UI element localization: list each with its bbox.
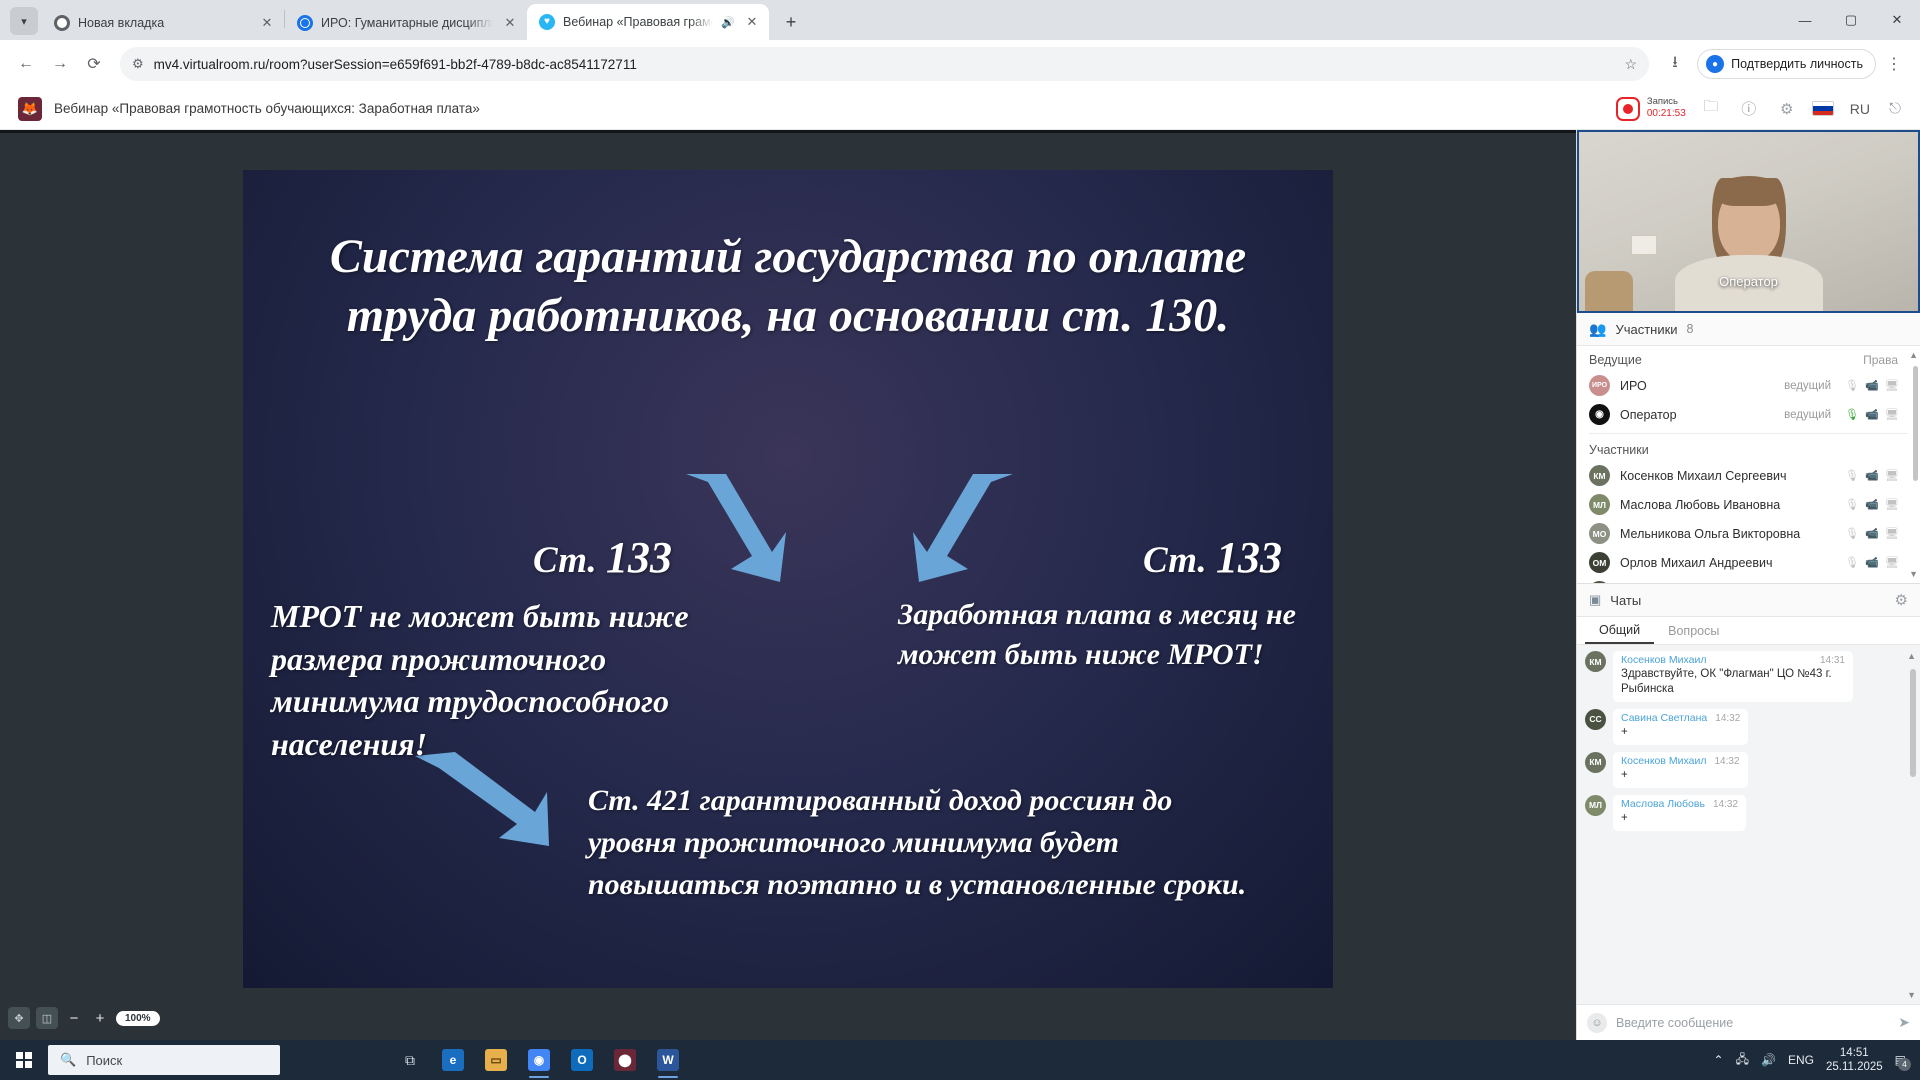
- message-bubble: Косенков Михаил 14:31 Здравствуйте, ОК "…: [1613, 651, 1853, 702]
- smiley-icon[interactable]: ☺: [1587, 1013, 1607, 1033]
- scroll-down-icon[interactable]: ▼: [1907, 990, 1916, 1000]
- avatar: ◉: [1589, 404, 1610, 425]
- participant-row-host-1[interactable]: ◉ Оператор ведущий 🎙 📹 🖥: [1577, 400, 1920, 429]
- video-participant-name: Оператор: [1579, 274, 1918, 289]
- message-bubble: Маслова Любовь 14:32 +: [1613, 795, 1746, 831]
- article-number: 133: [1216, 533, 1282, 582]
- clock-time: 14:51: [1840, 1047, 1869, 1059]
- scroll-up-icon[interactable]: ▲: [1907, 651, 1916, 661]
- zoom-out-button[interactable]: −: [64, 1007, 84, 1029]
- maximize-button[interactable]: ▢: [1828, 0, 1874, 40]
- participant-name: Орлов Михаил Андреевич: [1620, 556, 1835, 570]
- message-time: 14:32: [1715, 713, 1740, 724]
- mic-off-icon[interactable]: 🎙: [1845, 556, 1858, 569]
- participant-row-2[interactable]: МО Мельникова Ольга Викторовна 🎙 📹 🖥: [1577, 519, 1920, 548]
- participants-list[interactable]: Ведущие Права ИРО ИРО ведущий 🎙 📹 🖥: [1577, 346, 1920, 583]
- divider: [1589, 433, 1908, 434]
- message-time: 14:32: [1713, 799, 1738, 810]
- message-text: +: [1621, 811, 1738, 826]
- message-text: Здравствуйте, ОК "Флагман" ЦО №43 г. Рыб…: [1621, 667, 1845, 697]
- chat-icon: ▣: [1589, 592, 1601, 608]
- address-bar[interactable]: ⚙ mv4.virtualroom.ru/room?userSession=e6…: [120, 47, 1649, 81]
- gear-icon[interactable]: ⚙: [1895, 591, 1908, 609]
- fit-width-icon[interactable]: ◫: [36, 1007, 58, 1029]
- mic-on-icon[interactable]: 🎙: [1845, 408, 1858, 421]
- article-prefix: Ст.: [1143, 540, 1207, 581]
- chats-header: ▣ Чаты ⚙: [1577, 584, 1920, 617]
- tab-strip: ▾ Новая вкладка ✕ ИРО: Гуманитарные дисц…: [0, 0, 1920, 40]
- page-title: Вебинар «Правовая грамотность обучающихс…: [54, 101, 1604, 116]
- notifications-icon[interactable]: ▤4: [1895, 1053, 1906, 1067]
- arrow-down-right-icon: [911, 470, 1031, 585]
- participant-row-0[interactable]: КМ Косенков Михаил Сергеевич 🎙 📹 🖥: [1577, 461, 1920, 490]
- star-icon[interactable]: ☆: [1625, 56, 1638, 73]
- message-author: Косенков Михаил: [1621, 654, 1706, 666]
- move-icon[interactable]: ✥: [8, 1007, 30, 1029]
- heart-icon: ♥: [539, 14, 555, 30]
- slide-title: Система гарантий государства по оплате т…: [303, 228, 1273, 345]
- avatar: КМ: [1589, 465, 1610, 486]
- tab-search-chevron-icon[interactable]: ▾: [10, 7, 38, 35]
- volume-icon[interactable]: 🔊: [1761, 1053, 1776, 1067]
- message-bubble: Косенков Михаил 14:32 +: [1613, 752, 1748, 788]
- zoom-level[interactable]: 100%: [116, 1011, 160, 1026]
- language-indicator[interactable]: ENG: [1788, 1053, 1814, 1067]
- kebab-menu-icon[interactable]: ⋮: [1878, 48, 1910, 80]
- info-icon[interactable]: ⓘ: [1736, 96, 1762, 122]
- folder-icon[interactable]: 🗀: [1698, 96, 1724, 122]
- taskbar-app-iro[interactable]: ⬤: [605, 1040, 645, 1080]
- participant-role: ведущий: [1784, 380, 1831, 392]
- tab-title: Новая вкладка: [78, 16, 250, 30]
- taskbar-app-edge[interactable]: e: [433, 1040, 473, 1080]
- windows-taskbar: 🔍 Поиск ⧉ e ▭ ◉ O ⬤ W ⌃ 🖧 🔊 ENG 14:51 25…: [0, 1040, 1920, 1080]
- globe-icon: [297, 15, 313, 31]
- tab-voprosy[interactable]: Вопросы: [1654, 617, 1733, 644]
- back-icon[interactable]: ←: [10, 48, 42, 80]
- hair-top: [1716, 176, 1782, 206]
- screen-share-off-icon[interactable]: 🖥: [1885, 469, 1898, 482]
- participant-role: ведущий: [1784, 409, 1831, 421]
- send-icon[interactable]: ➤: [1898, 1014, 1910, 1031]
- download-icon[interactable]: ⭳: [1659, 48, 1691, 80]
- recording-indicator: Запись 00:21:53: [1616, 97, 1686, 121]
- gear-icon[interactable]: ⚙: [1774, 96, 1800, 122]
- browser-tab-3[interactable]: ♥ Вебинар «Правовая грамо 🔊 ✕: [527, 4, 769, 40]
- browser-tab-2[interactable]: ИРО: Гуманитарные дисципли ✕: [285, 6, 527, 40]
- network-icon[interactable]: 🖧: [1736, 1050, 1749, 1071]
- mic-off-icon[interactable]: 🎙: [1845, 527, 1858, 540]
- clock[interactable]: 14:51 25.11.2025: [1826, 1046, 1883, 1075]
- scroll-down-icon[interactable]: ▼: [1909, 569, 1918, 579]
- mic-off-icon[interactable]: 🎙: [1845, 379, 1858, 392]
- message-author: Савина Светлана: [1621, 712, 1707, 724]
- hosts-label: Ведущие: [1589, 353, 1642, 367]
- wall-socket-shape: [1631, 235, 1657, 255]
- taskbar-app-chrome[interactable]: ◉: [519, 1040, 559, 1080]
- camera-off-icon[interactable]: 📹: [1865, 556, 1878, 569]
- screen-share-off-icon[interactable]: 🖥: [1885, 379, 1898, 392]
- slide-article-left: Ст. 133: [533, 532, 672, 583]
- participant-name: Маслова Любовь Ивановна: [1620, 498, 1835, 512]
- participant-name: Мельникова Ольга Викторовна: [1620, 527, 1835, 541]
- tab-title: Вебинар «Правовая грамо: [563, 15, 713, 29]
- message-author: Косенков Михаил: [1621, 755, 1706, 767]
- mic-off-icon[interactable]: 🎙: [1845, 498, 1858, 511]
- reload-icon[interactable]: ⟳: [78, 48, 110, 80]
- avatar: КМ: [1585, 651, 1606, 672]
- chat-scrollbar[interactable]: ▲ ▼: [1910, 653, 1916, 998]
- message-time: 14:31: [1820, 655, 1845, 666]
- message-time: 14:32: [1714, 756, 1739, 767]
- right-panel: Оператор 👥 Участники 8 Ведущие Права ИРО…: [1576, 130, 1920, 1040]
- virtualroom-app: 🦊 Вебинар «Правовая грамотность обучающи…: [0, 88, 1920, 1040]
- taskbar-apps: ⧉ e ▭ ◉ O ⬤ W: [390, 1040, 688, 1080]
- new-tab-button[interactable]: +: [777, 8, 805, 36]
- chat-composer: ☺ Введите сообщение ➤: [1577, 1004, 1920, 1040]
- iro-logo: 🦊: [18, 97, 42, 121]
- chat-message-3: МЛ Маслова Любовь 14:32 +: [1585, 795, 1902, 831]
- slide: Система гарантий государства по оплате т…: [243, 170, 1333, 988]
- tab-obshchiy[interactable]: Общий: [1585, 617, 1654, 644]
- browser-toolbar: ← → ⟳ ⚙ mv4.virtualroom.ru/room?userSess…: [0, 40, 1920, 88]
- window-controls: — ▢ ✕: [1782, 0, 1920, 40]
- screen-share-off-icon[interactable]: 🖥: [1885, 408, 1898, 421]
- exit-icon[interactable]: ⎋: [1882, 96, 1908, 122]
- screen-share-off-icon[interactable]: 🖥: [1885, 498, 1898, 511]
- minimize-button[interactable]: —: [1782, 0, 1828, 40]
- screen-share-off-icon[interactable]: 🖥: [1885, 556, 1898, 569]
- chat-message-0: КМ Косенков Михаил 14:31 Здравствуйте, О…: [1585, 651, 1902, 702]
- chat-input[interactable]: Введите сообщение: [1616, 1016, 1889, 1030]
- hosts-section-header: Ведущие Права: [1577, 348, 1920, 371]
- slide-text-left: МРОТ не может быть ниже размера прожиточ…: [271, 595, 741, 765]
- taskbar-app-explorer[interactable]: ▭: [476, 1040, 516, 1080]
- avatar: СС: [1589, 581, 1610, 583]
- close-window-button[interactable]: ✕: [1874, 0, 1920, 40]
- participant-row-host-0[interactable]: ИРО ИРО ведущий 🎙 📹 🖥: [1577, 371, 1920, 400]
- system-tray: ⌃ 🖧 🔊 ENG 14:51 25.11.2025 ▤4: [1714, 1046, 1920, 1075]
- members-section-header: Участники: [1577, 438, 1920, 461]
- chat-messages[interactable]: КМ Косенков Михаил 14:31 Здравствуйте, О…: [1577, 645, 1920, 1004]
- slide-text-bottom: Ст. 421 гарантированный доход россиян до…: [588, 780, 1268, 906]
- flag-ru-icon: [1812, 101, 1834, 116]
- recording-timer: 00:21:53: [1647, 108, 1686, 120]
- close-icon[interactable]: ✕: [501, 14, 519, 32]
- app-header: 🦊 Вебинар «Правовая грамотность обучающи…: [0, 88, 1920, 130]
- scroll-up-icon[interactable]: ▲: [1909, 350, 1918, 360]
- rights-label: Права: [1863, 353, 1898, 367]
- message-text: +: [1621, 768, 1740, 783]
- person-silhouette: [1674, 176, 1824, 311]
- participants-label: Участники: [1615, 322, 1677, 337]
- participant-name: ИРО: [1620, 379, 1774, 393]
- notifications-count: 4: [1898, 1058, 1911, 1071]
- participants-count: 8: [1687, 322, 1694, 336]
- video-tile-operator[interactable]: Оператор: [1577, 130, 1920, 313]
- chat-message-2: КМ Косенков Михаил 14:32 +: [1585, 752, 1902, 788]
- arrow-down-right-2-icon: [411, 750, 551, 860]
- app-body: Система гарантий государства по оплате т…: [0, 130, 1920, 1040]
- article-number: 133: [606, 533, 672, 582]
- scrollbar-thumb[interactable]: [1913, 366, 1918, 481]
- chrome-icon: [54, 15, 70, 31]
- chat-message-1: СС Савина Светлана 14:32 +: [1585, 709, 1902, 745]
- search-placeholder: Поиск: [86, 1053, 122, 1068]
- search-icon: 🔍: [60, 1052, 76, 1068]
- windows-start-icon[interactable]: [0, 1040, 48, 1080]
- scrollbar-thumb[interactable]: [1910, 669, 1916, 777]
- clock-date: 25.11.2025: [1826, 1061, 1883, 1073]
- message-text: +: [1621, 725, 1740, 740]
- participant-row-3[interactable]: ОМ Орлов Михаил Андреевич 🎙 📹 🖥: [1577, 548, 1920, 577]
- record-icon[interactable]: [1616, 97, 1640, 121]
- avatar: ИРО: [1589, 375, 1610, 396]
- mic-off-icon[interactable]: 🎙: [1845, 469, 1858, 482]
- avatar: КМ: [1585, 752, 1606, 773]
- chat-tabs: Общий Вопросы: [1577, 617, 1920, 645]
- tab-title: ИРО: Гуманитарные дисципли: [321, 16, 493, 30]
- tab-audio-icon[interactable]: 🔊: [721, 16, 735, 29]
- search-input[interactable]: 🔍 Поиск: [48, 1045, 280, 1075]
- avatar: МО: [1589, 523, 1610, 544]
- camera-on-icon[interactable]: 📹: [1865, 408, 1878, 421]
- tune-icon[interactable]: ⚙: [132, 56, 144, 72]
- camera-off-icon[interactable]: 📹: [1865, 527, 1878, 540]
- participant-name: Оператор: [1620, 408, 1774, 422]
- close-icon[interactable]: ✕: [743, 13, 761, 31]
- browser-tab-1[interactable]: Новая вкладка ✕: [42, 6, 284, 40]
- chevron-up-icon[interactable]: ⌃: [1714, 1053, 1724, 1067]
- profile-verify-button[interactable]: ● Подтвердить личность: [1697, 49, 1876, 79]
- message-bubble: Савина Светлана 14:32 +: [1613, 709, 1748, 745]
- presentation-stage: Система гарантий государства по оплате т…: [0, 130, 1576, 1040]
- taskbar-app-word[interactable]: W: [648, 1040, 688, 1080]
- participant-name: Косенков Михаил Сергеевич: [1620, 469, 1835, 483]
- avatar: МЛ: [1589, 494, 1610, 515]
- slide-article-right: Ст. 133: [1143, 532, 1282, 583]
- language-code[interactable]: RU: [1850, 101, 1870, 117]
- chats-label: Чаты: [1610, 593, 1641, 608]
- members-label: Участники: [1589, 443, 1649, 457]
- camera-off-icon[interactable]: 📹: [1865, 379, 1878, 392]
- zoom-in-button[interactable]: +: [90, 1007, 110, 1029]
- arrow-down-left-icon: [668, 470, 788, 585]
- screen-share-off-icon[interactable]: 🖥: [1885, 527, 1898, 540]
- forward-icon[interactable]: →: [44, 48, 76, 80]
- chrome-browser-window: ▾ Новая вкладка ✕ ИРО: Гуманитарные дисц…: [0, 0, 1920, 1040]
- zoom-toolbar: ✥ ◫ − + 100%: [0, 996, 160, 1040]
- avatar: ОМ: [1589, 552, 1610, 573]
- avatar: МЛ: [1585, 795, 1606, 816]
- avatar: СС: [1585, 709, 1606, 730]
- chats-panel: ▣ Чаты ⚙ Общий Вопросы КМ Кос: [1577, 583, 1920, 1040]
- people-icon: 👥: [1589, 321, 1606, 338]
- camera-off-icon[interactable]: 📹: [1865, 469, 1878, 482]
- avatar: ●: [1706, 55, 1724, 73]
- participant-row-4[interactable]: СС Савина Светлана Владимировна 🎙 📹 🖥: [1577, 577, 1920, 583]
- profile-label: Подтвердить личность: [1731, 57, 1863, 71]
- recording-label: Запись: [1647, 97, 1686, 108]
- url-text: mv4.virtualroom.ru/room?userSession=e659…: [154, 57, 1615, 72]
- camera-off-icon[interactable]: 📹: [1865, 498, 1878, 511]
- message-author: Маслова Любовь: [1621, 798, 1705, 810]
- participants-header: 👥 Участники 8: [1577, 313, 1920, 346]
- task-view-icon[interactable]: ⧉: [390, 1040, 430, 1080]
- participants-scrollbar[interactable]: ▲ ▼: [1913, 352, 1918, 577]
- article-prefix: Ст.: [533, 540, 597, 581]
- slide-text-right: Заработная плата в месяц не может быть н…: [898, 595, 1328, 674]
- close-icon[interactable]: ✕: [258, 14, 276, 32]
- taskbar-app-outlook[interactable]: O: [562, 1040, 602, 1080]
- participant-row-1[interactable]: МЛ Маслова Любовь Ивановна 🎙 📹 🖥: [1577, 490, 1920, 519]
